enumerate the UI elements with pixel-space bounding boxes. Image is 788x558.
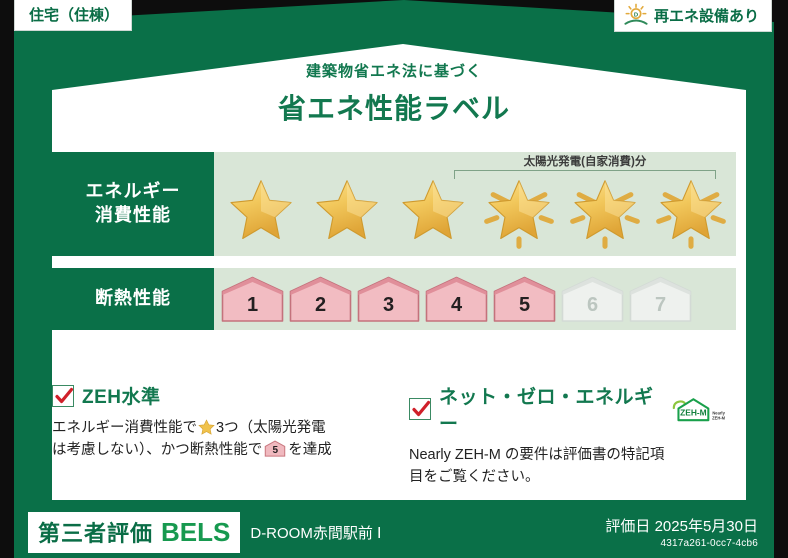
label-heading: 建築物省エネ法に基づく 省エネ性能ラベル — [0, 60, 788, 127]
energy-label-line2: 消費性能 — [95, 204, 171, 228]
net-zero-energy-block: ネット・ゼロ・エネルギー ZEH-M Nearly ZEH-M Nearly Z… — [397, 382, 742, 489]
evaluation-date: 評価日 2025年5月30日 — [605, 515, 758, 536]
zeh-text-part4: を達成 — [288, 442, 332, 458]
energy-label-line1: エネルギー — [86, 180, 181, 204]
insulation-level-number: 2 — [288, 294, 353, 317]
insulation-level-3: 3 — [356, 275, 421, 323]
zeh-text-part2: 3つ（太陽光発電 — [216, 420, 326, 436]
energy-star-4 — [476, 174, 562, 254]
insulation-level-1: 1 — [220, 275, 285, 323]
criteria-section: ZEH水準 エネルギー消費性能で 3つ（太陽光発電 は考慮しない）、かつ断熱性能… — [52, 382, 742, 489]
net-zero-energy-checkbox[interactable] — [409, 398, 431, 420]
net-zero-text-line2: 目をご覧ください。 — [409, 469, 540, 485]
gold-star-icon — [309, 178, 385, 250]
inline-gold-star-icon — [198, 419, 215, 435]
insulation-label-text: 断熱性能 — [95, 287, 171, 311]
evaluation-info: 評価日 2025年5月30日 4317a261-0cc7-4cb6 — [605, 515, 758, 549]
performance-panel: エネルギー 消費性能 太陽光発電(自家消費)分 — [52, 152, 736, 342]
gold-star-icon — [223, 178, 299, 250]
insulation-level-number: 6 — [560, 294, 625, 317]
insulation-level-number: 3 — [356, 294, 421, 317]
zeh-standard-description: エネルギー消費性能で 3つ（太陽光発電 は考慮しない）、かつ断熱性能で 5 を達… — [52, 417, 383, 462]
energy-star-strip — [214, 174, 736, 254]
energy-performance-row: エネルギー 消費性能 太陽光発電(自家消費)分 — [52, 152, 736, 256]
net-zero-energy-header: ネット・ゼロ・エネルギー ZEH-M Nearly ZEH-M — [409, 382, 728, 436]
energy-star-1 — [218, 174, 304, 254]
zeh-standard-checkbox[interactable] — [52, 385, 74, 407]
zeh-m-house-logo: ZEH-M Nearly ZEH-M — [670, 395, 728, 423]
insulation-level-number: 1 — [220, 294, 285, 317]
insulation-performance-label: 断熱性能 — [52, 268, 214, 330]
energy-star-6 — [648, 174, 734, 254]
gold-star-icon — [567, 178, 643, 250]
insulation-house-strip: 1 2 3 4 5 6 — [220, 275, 693, 323]
zeh-text-part1: エネルギー消費性能で — [52, 420, 197, 436]
energy-star-2 — [304, 174, 390, 254]
insulation-level-4: 4 — [424, 275, 489, 323]
insulation-level-number: 4 — [424, 294, 489, 317]
energy-star-3 — [390, 174, 476, 254]
insulation-level-7: 7 — [628, 275, 693, 323]
net-zero-energy-title: ネット・ゼロ・エネルギー — [439, 382, 658, 436]
red-check-icon — [54, 386, 74, 406]
renewable-equipment-label: 再エネ設備あり — [654, 5, 759, 26]
page-title: 省エネ性能ラベル — [0, 87, 788, 127]
insulation-level-2: 2 — [288, 275, 353, 323]
evaluation-id: 4317a261-0cc7-4cb6 — [605, 538, 758, 549]
building-type-tab: 住宅（住棟） — [14, 0, 132, 31]
gold-star-icon — [481, 178, 557, 250]
gold-star-icon — [395, 178, 471, 250]
insulation-scale-area: 1 2 3 4 5 6 — [214, 268, 736, 330]
energy-performance-label: エネルギー 消費性能 — [52, 152, 214, 256]
bels-badge: 第三者評価 BELS — [28, 512, 240, 553]
insulation-level-number: 5 — [492, 294, 557, 317]
building-type-label: 住宅（住棟） — [29, 7, 119, 24]
inline-house-badge-icon: 5 — [264, 440, 286, 457]
insulation-performance-row: 断熱性能 1 2 3 4 — [52, 268, 736, 330]
zeh-standard-block: ZEH水準 エネルギー消費性能で 3つ（太陽光発電 は考慮しない）、かつ断熱性能… — [52, 382, 397, 489]
bels-japanese-label: 第三者評価 — [38, 516, 153, 548]
label-footer: 第三者評価 BELS D-ROOM赤間駅前 Ⅰ 評価日 2025年5月30日 4… — [14, 506, 774, 558]
insulation-level-number: 7 — [628, 294, 693, 317]
bels-acronym: BELS — [161, 517, 230, 548]
building-name: D-ROOM赤間駅前 Ⅰ — [250, 522, 381, 543]
svg-text:ZEH-M: ZEH-M — [712, 415, 726, 420]
solar-sun-icon: D — [623, 3, 649, 27]
svg-text:D: D — [634, 12, 638, 18]
zeh-standard-title: ZEH水準 — [82, 382, 161, 409]
renewable-equipment-badge: D 再エネ設備あり — [614, 0, 772, 32]
insulation-level-6: 6 — [560, 275, 625, 323]
zeh-m-logo-text: ZEH-M — [680, 408, 707, 418]
gold-star-icon — [653, 178, 729, 250]
net-zero-text-line1: Nearly ZEH-M の要件は評価書の特記項 — [409, 447, 664, 463]
solar-annotation-label: 太陽光発電(自家消費)分 — [452, 153, 718, 169]
red-check-icon — [411, 399, 431, 419]
net-zero-energy-description: Nearly ZEH-M の要件は評価書の特記項 目をご覧ください。 — [409, 444, 728, 489]
energy-star-5 — [562, 174, 648, 254]
zeh-standard-header: ZEH水準 — [52, 382, 383, 409]
zeh-text-part3: は考慮しない）、かつ断熱性能で — [52, 442, 262, 458]
energy-star-area: 太陽光発電(自家消費)分 — [214, 152, 736, 256]
insulation-level-5: 5 — [492, 275, 557, 323]
inline-house-value: 5 — [264, 443, 286, 459]
heading-subtitle: 建築物省エネ法に基づく — [0, 60, 788, 81]
